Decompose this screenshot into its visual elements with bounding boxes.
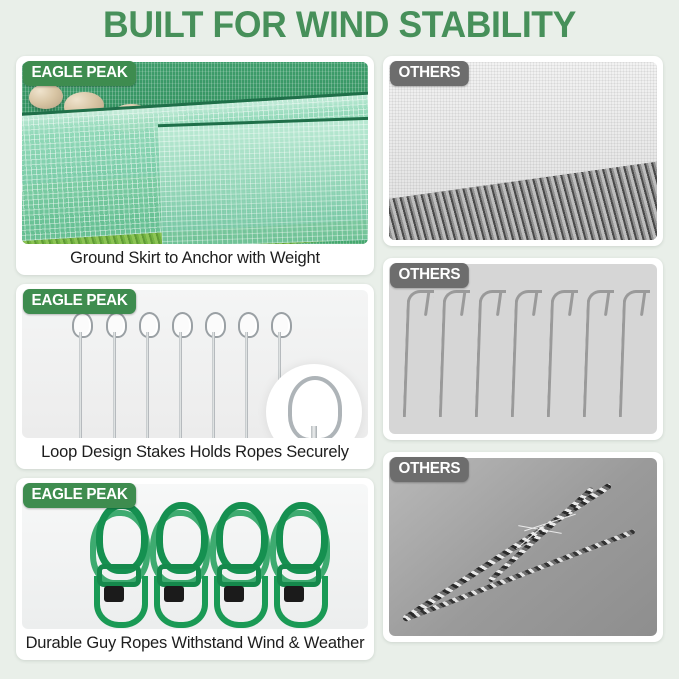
brand-card-guy-ropes: EAGLE PEAK <box>16 478 374 660</box>
hook-back <box>460 290 467 316</box>
brand-column: EAGLE PEAK Ground Skirt to Anchor with W… <box>16 56 374 669</box>
brand-badge: EAGLE PEAK <box>23 289 136 314</box>
loop-stake <box>203 312 225 438</box>
stake-loop-icon <box>139 312 160 338</box>
hook-stake <box>583 290 614 417</box>
rope-tensioner <box>284 586 304 602</box>
coiled-guy-rope <box>264 502 326 624</box>
loop-stake <box>236 312 258 438</box>
rope-tensioner <box>224 586 244 602</box>
stake-shaft <box>245 332 248 438</box>
stake-shaft-closeup <box>311 426 317 438</box>
loop-stake <box>70 312 92 438</box>
hook-stake <box>403 290 434 417</box>
brand-caption: Ground Skirt to Anchor with Weight <box>16 244 374 275</box>
loop-stake <box>104 312 126 438</box>
stake-loop-icon <box>106 312 127 338</box>
stake-loop-icon <box>271 312 292 338</box>
competitor-card-hook-stakes: OTHERS <box>383 258 663 440</box>
stake-shaft <box>79 332 82 438</box>
hook-back <box>532 290 539 316</box>
hook-stake <box>439 290 470 417</box>
competitor-card-cover: OTHERS <box>383 56 663 246</box>
brand-caption: Durable Guy Ropes Withstand Wind & Weath… <box>16 629 374 660</box>
loop-stake <box>137 312 159 438</box>
loop-stake <box>170 312 192 438</box>
hook-back <box>604 290 611 316</box>
stake-loop-icon <box>172 312 193 338</box>
page-title: BUILT FOR WIND STABILITY <box>14 4 666 46</box>
brand-badge: EAGLE PEAK <box>23 483 136 508</box>
brand-badge: EAGLE PEAK <box>23 61 136 86</box>
competitor-column: OTHERS OTHERS OTHERS <box>383 56 663 651</box>
hook-back <box>496 290 503 316</box>
hook-stake <box>511 290 542 417</box>
competitor-frayed-rope-photo <box>389 458 657 636</box>
coiled-guy-rope <box>84 502 146 624</box>
rope-band <box>157 564 201 587</box>
rope-band <box>277 564 321 587</box>
stake-loop-icon <box>238 312 259 338</box>
brand-card-loop-stakes: EAGLE PEAK Loop Design Stakes Holds Rope… <box>16 284 374 469</box>
rope-tensioner <box>104 586 124 602</box>
hook-stake <box>547 290 578 417</box>
stake-loop-icon <box>205 312 226 338</box>
rope-band <box>217 564 261 587</box>
hook-stake <box>619 290 650 417</box>
stake-shaft <box>179 332 182 438</box>
coiled-guy-rope <box>204 502 266 624</box>
stake-shaft <box>146 332 149 438</box>
stake-shaft <box>113 332 116 438</box>
competitor-card-frayed-rope: OTHERS <box>383 452 663 642</box>
hook-back <box>640 290 647 316</box>
brand-caption: Loop Design Stakes Holds Ropes Securely <box>16 438 374 469</box>
rope-tensioner <box>164 586 184 602</box>
ground-skirt-photo <box>22 62 368 244</box>
stake-shaft <box>212 332 215 438</box>
brand-card-ground-skirt: EAGLE PEAK Ground Skirt to Anchor with W… <box>16 56 374 275</box>
rope-band <box>97 564 141 587</box>
ground-skirt-panel-2 <box>158 116 368 244</box>
product-comparison-infographic: BUILT FOR WIND STABILITY EAGLE PEAK Grou… <box>0 0 679 679</box>
hook-back <box>424 290 431 316</box>
competitor-hook-stakes-photo <box>389 264 657 434</box>
stake-loop-icon <box>72 312 93 338</box>
competitor-badge: OTHERS <box>390 61 469 86</box>
hook-back <box>568 290 575 316</box>
rock <box>29 84 63 109</box>
competitor-cover-photo <box>389 62 657 240</box>
hook-stake <box>475 290 506 417</box>
coiled-guy-rope <box>144 502 206 624</box>
competitor-badge: OTHERS <box>390 263 469 288</box>
competitor-badge: OTHERS <box>390 457 469 482</box>
